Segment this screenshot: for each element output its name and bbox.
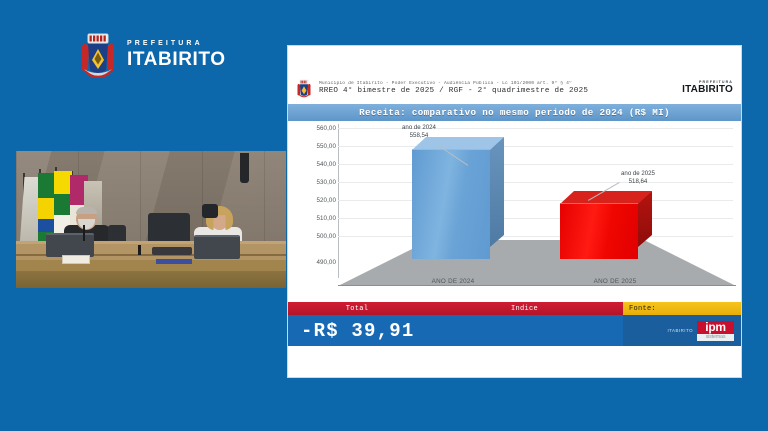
prefeitura-brand-header: PREFEITURA ITABIRITO [78,32,226,78]
gridline [338,164,733,165]
nameplate [62,255,90,264]
brand-superscript: PREFEITURA [127,40,226,47]
slide-brand-name: ITABIRITO [682,85,733,95]
x-axis-label-2024: ANO DE 2024 [398,278,508,285]
y-axis-tick: 530,00 [294,179,336,186]
slide-header-text: Município de Itabirito - Poder Executivo… [319,81,675,95]
slide-header-title: RREO 4° bimestre de 2025 / RGF - 2° quad… [319,87,675,95]
footer-label-strip: Total Indice Fonte: [288,302,741,315]
ipm-sistemas-logo: ipm sistemas [697,321,734,341]
bar-2024-side [490,137,504,247]
bar-ano-de-2024[interactable] [412,149,504,259]
y-axis-tick: 490,00 [294,259,336,266]
coat-of-arms-icon [296,79,312,98]
chart-title-band: Receita: comparativo no mesmo periodo de… [288,104,741,121]
microphone [138,245,141,255]
gridline [338,146,733,147]
laptop [46,233,94,257]
council-session-video-feed[interactable] [16,151,286,288]
y-axis-tick: 560,00 [294,125,336,132]
bar-2024-front [412,149,490,259]
footer-source-box: ITABIRITO ipm sistemas [623,315,741,346]
ipm-logo-subtitle: sistemas [697,334,734,341]
gridline [338,218,733,219]
footer-total-value: -R$ 39,91 [288,320,414,342]
bar-ano-de-2025[interactable] [560,203,652,259]
brand-wordmark: PREFEITURA ITABIRITO [127,40,226,71]
desk-papers [156,259,192,264]
brand-name: ITABIRITO [127,50,226,69]
official-left-hair [76,207,97,214]
callout-ano-de-2024: ano de 2024 558,54 [374,124,464,139]
ceiling-speaker [240,153,249,183]
presentation-slide[interactable]: Município de Itabirito - Poder Executivo… [287,45,742,378]
microphone [83,225,85,241]
y-axis-tick: 540,00 [294,161,336,168]
coat-of-arms-icon [78,32,118,78]
callout-2024-series: ano de 2024 [374,124,464,132]
y-axis-tick: 500,00 [294,233,336,240]
callout-ano-de-2025: ano de 2025 518,64 [593,170,683,185]
laptop [194,235,240,259]
x-axis-label-2025: ANO DE 2025 [560,278,670,285]
chair [202,204,218,218]
gridline [338,200,733,201]
footer-source-city: ITABIRITO [667,328,693,333]
callout-2025-value: 518,64 [593,178,683,186]
y-axis-tick: 520,00 [294,197,336,204]
slide-header-subtitle: Município de Itabirito - Poder Executivo… [319,81,675,86]
footer-fonte-label: Fonte: [623,302,741,315]
y-axis-tick: 550,00 [294,143,336,150]
y-axis-tick: 510,00 [294,215,336,222]
gridline [338,236,733,237]
chart-title: Receita: comparativo no mesmo periodo de… [359,107,670,118]
footer-total-label: Total [288,305,426,313]
chart-plot-area: 560,00 550,00 540,00 530,00 520,00 510,0… [288,122,741,296]
laptop [152,247,192,255]
footer-indice-label: Indice [426,305,623,313]
ipm-logo-wordmark: ipm [697,321,734,334]
callout-2024-value: 558,54 [374,132,464,140]
callout-2025-series: ano de 2025 [593,170,683,178]
slide-brand-wordmark: PREFEITURA ITABIRITO [682,81,733,96]
bar-2025-front [560,203,638,259]
slide-header: Município de Itabirito - Poder Executivo… [288,74,741,102]
